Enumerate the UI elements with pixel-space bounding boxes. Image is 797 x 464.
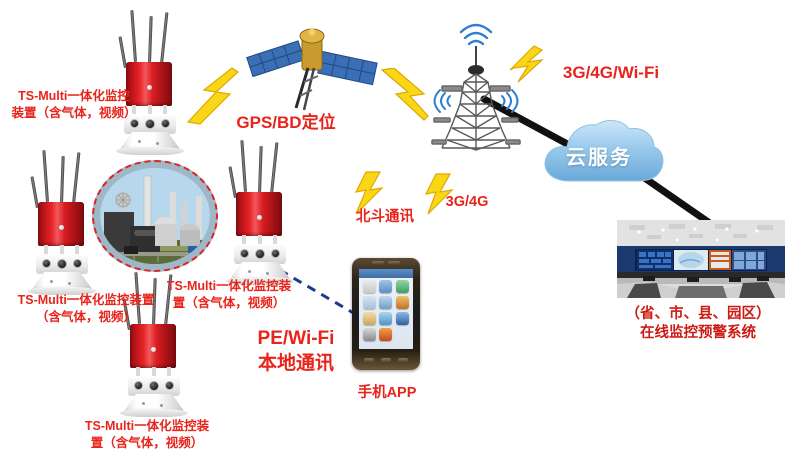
app-icon[interactable]: [379, 312, 392, 325]
app-icon[interactable]: [363, 280, 376, 293]
cloud-label: 云服务: [566, 141, 632, 170]
app-icon[interactable]: [396, 312, 409, 325]
app-icon[interactable]: [396, 328, 409, 341]
phone-status-bar: [359, 269, 413, 278]
monitoring-device-left: [20, 150, 106, 295]
label-beidou: 北斗通讯: [348, 208, 422, 227]
app-icon[interactable]: [363, 312, 376, 325]
network-architecture-diagram: 云服务: [0, 0, 797, 464]
label-device-top: TS-Multi一体化监控 装置（含气体，视频）: [4, 88, 144, 121]
app-icon[interactable]: [379, 328, 392, 341]
label-device-bottom: TS-Multi一体化监控装 置（含气体，视频）: [72, 418, 222, 451]
label-gps-bd: GPS/BD定位: [224, 112, 348, 134]
label-device-left: TS-Multi一体化监控装置 （含气体，视频）: [0, 292, 172, 325]
industrial-plant-photo: [92, 160, 218, 272]
label-3g4g: 3G/4G: [434, 193, 500, 212]
app-icon[interactable]: [379, 280, 392, 293]
cell-tower-icon: [424, 22, 528, 158]
app-icon[interactable]: [396, 280, 409, 293]
control-room-photo: [617, 220, 785, 298]
label-control-center: （省、市、县、园区） 在线监控预警系统: [600, 305, 796, 343]
app-icon[interactable]: [363, 328, 376, 341]
app-icon[interactable]: [396, 296, 409, 309]
app-icon[interactable]: [379, 296, 392, 309]
label-3g4g-wifi: 3G/4G/Wi-Fi: [546, 62, 676, 84]
monitoring-device-top: [108, 10, 194, 155]
app-icon[interactable]: [363, 296, 376, 309]
label-phone-app: 手机APP: [352, 384, 422, 403]
label-pe-wifi: PE/Wi-Fi 本地通讯: [238, 326, 354, 376]
label-device-middle: TS-Multi一体化监控装 置（含气体，视频）: [154, 278, 304, 311]
satellite-icon: [244, 12, 380, 116]
monitoring-device-middle: [218, 140, 304, 285]
phone-app-grid[interactable]: [362, 280, 410, 341]
